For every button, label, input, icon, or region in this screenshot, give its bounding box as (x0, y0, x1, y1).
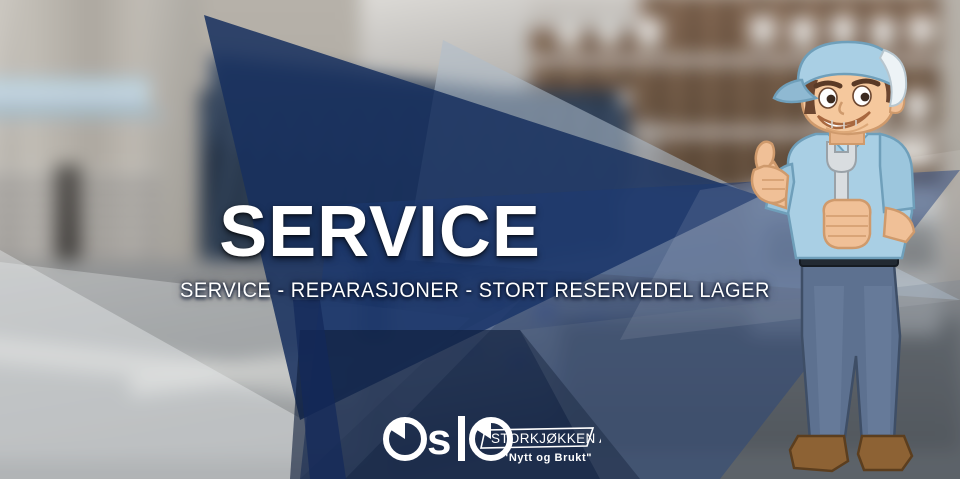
company-logo[interactable]: s STORKJØKKEN AS "Nytt og Brukt" (381, 414, 601, 472)
logo-company-name: STORKJØKKEN AS (491, 431, 601, 446)
mascot-hand-grip (824, 200, 871, 248)
mascot-shoe-right (858, 436, 912, 470)
logo-letter-o-first (386, 420, 424, 458)
service-banner: SERVICE SERVICE - REPARASJONER - STORT R… (0, 0, 960, 479)
service-technician-mascot (744, 36, 960, 479)
mascot-fist (752, 166, 788, 203)
mascot-shoe-left (790, 436, 848, 471)
logo-tagline: "Nytt og Brukt" (503, 452, 592, 464)
logo-letter-l (458, 416, 465, 461)
mascot-sleeve-right (880, 134, 914, 212)
logo-letter-s: s (427, 415, 451, 464)
